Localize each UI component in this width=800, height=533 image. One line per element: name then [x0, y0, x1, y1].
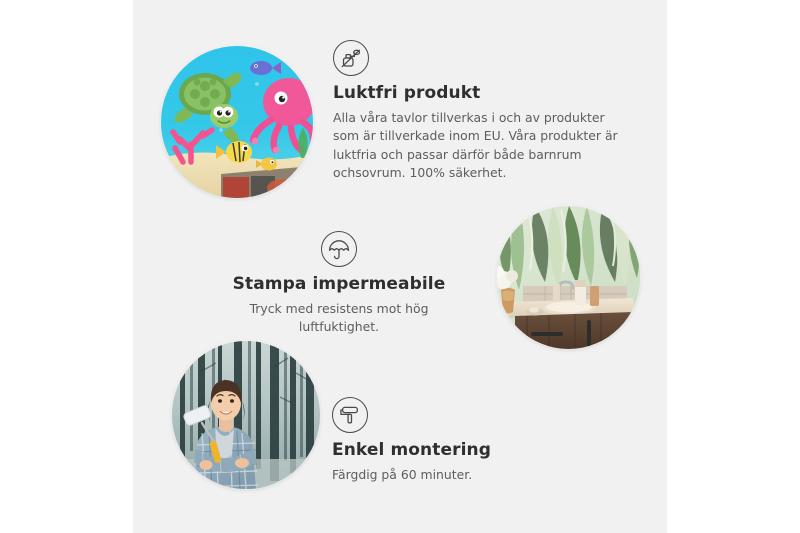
feature-body: Alla våra tavlor tillverkas i och av pro…	[333, 109, 623, 182]
feature-block-waterproof: Stampa impermeabile Tryck med resistens …	[216, 231, 462, 337]
feature-title: Luktfri produkt	[333, 83, 623, 104]
underwater-cartoon-photo	[161, 46, 313, 198]
umbrella-icon	[321, 231, 357, 267]
feature-body: Tryck med resistens mot hög luftfuktighe…	[216, 300, 462, 336]
feature-title: Enkel montering	[332, 440, 582, 461]
feature-icon-wrap	[333, 40, 623, 76]
feature-body: Färgdig på 60 minuter.	[332, 466, 582, 484]
product-feature-panel: Luktfri produkt Alla våra tavlor tillver…	[0, 0, 800, 533]
no-fragrance-icon	[333, 40, 369, 76]
woman-painter-photo	[172, 341, 320, 489]
feature-icon-wrap	[332, 397, 582, 433]
bathroom-vanity-photo	[497, 206, 640, 349]
feature-block-assembly: Enkel montering Färgdig på 60 minuter.	[332, 397, 582, 484]
feature-title: Stampa impermeabile	[216, 274, 462, 295]
feature-icon-wrap	[216, 231, 462, 267]
feature-block-odorless: Luktfri produkt Alla våra tavlor tillver…	[333, 40, 623, 182]
paint-roller-icon	[332, 397, 368, 433]
